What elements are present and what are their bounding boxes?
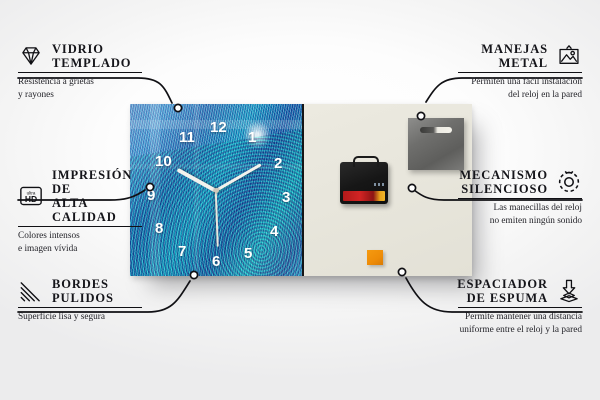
feature-subtitle: Resistencia a grietas y rayones <box>18 76 142 101</box>
callout-rule <box>18 226 142 227</box>
callout-header: ESPACIADOR DE ESPUMA <box>458 277 582 305</box>
clock-number: 10 <box>155 154 172 169</box>
diamond-icon <box>18 43 44 69</box>
callout-rule <box>18 307 142 308</box>
ultra-hd-icon: ultra HD <box>18 183 44 209</box>
mechanism-contacts <box>374 183 384 186</box>
clock-number: 4 <box>270 224 278 239</box>
callout-header: VIDRIO TEMPLADO <box>18 42 142 70</box>
hanger-slot <box>420 127 452 133</box>
feature-title: BORDES PULIDOS <box>52 277 114 305</box>
feature-title: MECANISMO SILENCIOSO <box>459 168 548 196</box>
feature-subtitle: Las manecillas del reloj no emiten ningú… <box>458 202 582 227</box>
clock-number: 9 <box>147 188 155 203</box>
clock-back-panel <box>302 104 472 276</box>
infographic-canvas: 12 1 2 3 4 5 6 7 8 9 10 11 <box>0 0 600 400</box>
mechanism-handle <box>353 156 379 167</box>
feature-callout-mecanismo-silencioso[interactable]: MECANISMO SILENCIOSO Las manecillas del … <box>458 168 582 227</box>
feature-subtitle: Superficie lisa y segura <box>18 311 142 324</box>
feature-callout-impresion-alta-calidad[interactable]: ultra HD IMPRESIÓN DE ALTA CALIDAD Color… <box>18 168 142 255</box>
feature-callout-espaciador-de-espuma[interactable]: ESPACIADOR DE ESPUMA Permite mantener un… <box>458 277 582 336</box>
callout-rule <box>458 198 582 199</box>
product-photo: 12 1 2 3 4 5 6 7 8 9 10 11 <box>130 104 470 276</box>
battery-compartment-label <box>343 191 385 201</box>
callout-rule <box>458 307 582 308</box>
feature-title: MANEJAS METAL <box>481 42 548 70</box>
orange-foam-spacer <box>367 250 383 265</box>
polished-edge-icon <box>18 278 44 304</box>
feature-subtitle: Colores intensos e imagen vívida <box>18 230 142 255</box>
metal-hanger-plate <box>408 118 464 170</box>
clock-number: 3 <box>282 190 290 205</box>
feature-subtitle: Permiten una fácil instalación del reloj… <box>458 76 582 101</box>
clock-number: 8 <box>155 221 163 236</box>
gear-icon <box>556 169 582 195</box>
feature-callout-manejas-metal[interactable]: MANEJAS METAL Permiten una fácil instala… <box>458 42 582 101</box>
callout-header: ultra HD IMPRESIÓN DE ALTA CALIDAD <box>18 168 142 224</box>
foam-spacer-arrow-icon <box>556 278 582 304</box>
clock-number: 1 <box>248 130 256 145</box>
svg-text:HD: HD <box>25 194 37 204</box>
clock-number: 5 <box>244 246 252 261</box>
feature-title: ESPACIADOR DE ESPUMA <box>457 277 548 305</box>
picture-hanger-icon <box>556 43 582 69</box>
feature-callout-vidrio-templado[interactable]: VIDRIO TEMPLADO Resistencia a grietas y … <box>18 42 142 101</box>
callout-rule <box>458 72 582 73</box>
clock-center-cap <box>214 188 219 193</box>
clock-number: 6 <box>212 254 220 269</box>
callout-rule <box>18 72 142 73</box>
clock-number: 7 <box>178 244 186 259</box>
clock-number: 2 <box>274 156 282 171</box>
callout-header: BORDES PULIDOS <box>18 277 142 305</box>
feature-subtitle: Permite mantener una distancia uniforme … <box>458 311 582 336</box>
feature-callout-bordes-pulidos[interactable]: BORDES PULIDOS Superficie lisa y segura <box>18 277 142 324</box>
clock-number: 11 <box>179 130 195 145</box>
clock-glass-face: 12 1 2 3 4 5 6 7 8 9 10 11 <box>130 104 302 276</box>
clock-number: 12 <box>210 120 227 135</box>
feature-title: VIDRIO TEMPLADO <box>52 42 131 70</box>
feature-title: IMPRESIÓN DE ALTA CALIDAD <box>52 168 142 224</box>
clock-mechanism-box <box>340 162 388 204</box>
callout-header: MECANISMO SILENCIOSO <box>458 168 582 196</box>
callout-header: MANEJAS METAL <box>458 42 582 70</box>
